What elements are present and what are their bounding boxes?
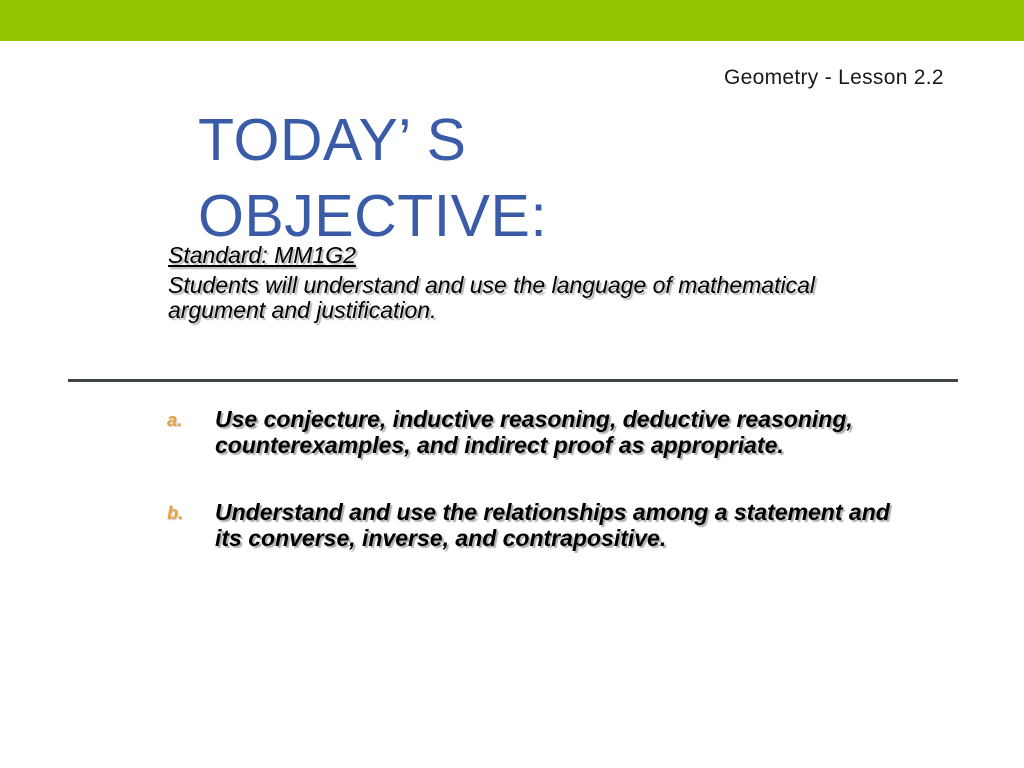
top-accent-band	[0, 0, 1024, 41]
lesson-label: Geometry - Lesson 2.2	[724, 66, 984, 90]
standard-block: Standard: MM1G2 Students will understand…	[168, 243, 868, 323]
standard-heading: Standard: MM1G2	[168, 243, 356, 268]
slide: Geometry - Lesson 2.2 TODAY’ S OBJECTIVE…	[0, 0, 1024, 768]
standard-body-text: Students will understand and use the lan…	[168, 273, 868, 323]
list-item-text: Use conjecture, inductive reasoning, ded…	[215, 406, 904, 458]
list-item-marker: b.	[167, 503, 199, 524]
list-item-text: Understand and use the relationships amo…	[215, 499, 904, 551]
outcome-list: a. Use conjecture, inductive reasoning, …	[164, 406, 904, 551]
list-item: a. Use conjecture, inductive reasoning, …	[164, 406, 904, 458]
list-item: b. Understand and use the relationships …	[164, 499, 904, 551]
section-divider	[68, 379, 958, 382]
page-title: TODAY’ S OBJECTIVE:	[198, 102, 718, 254]
list-item-marker: a.	[167, 410, 199, 431]
